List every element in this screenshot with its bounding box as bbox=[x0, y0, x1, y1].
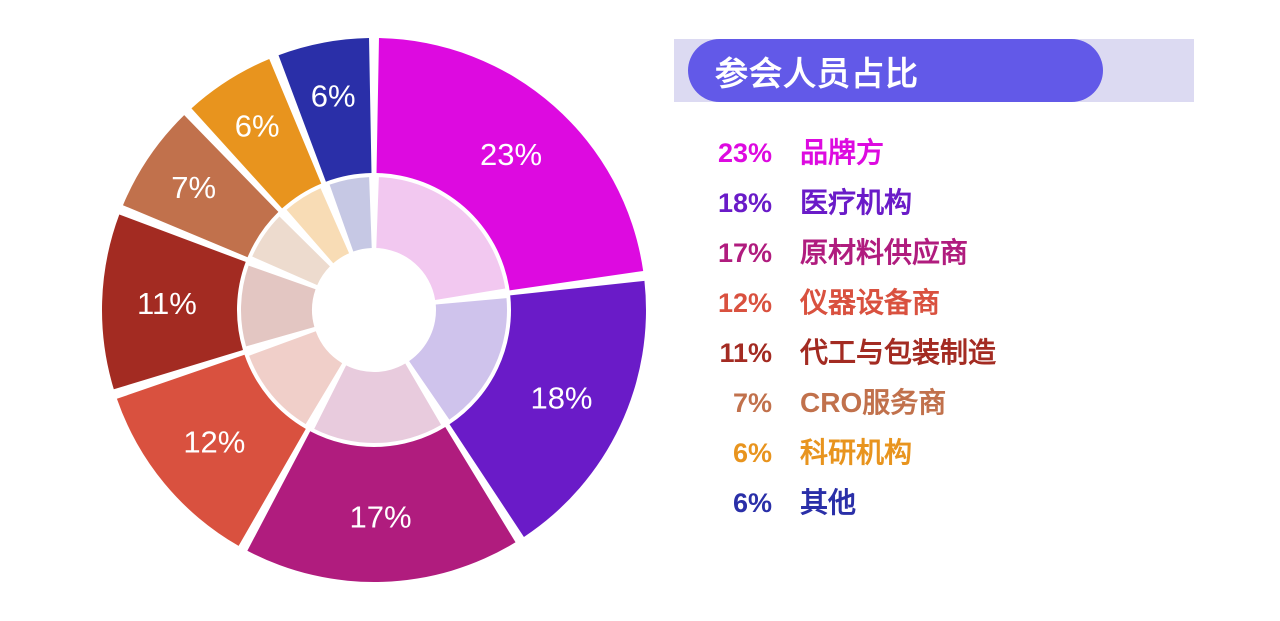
legend-percent: 18% bbox=[660, 188, 772, 219]
legend-item: 6%科研机构 bbox=[660, 431, 1280, 481]
legend-label: CRO服务商 bbox=[800, 381, 946, 421]
legend-label: 科研机构 bbox=[800, 431, 912, 471]
pie-slice-value-label: 17% bbox=[349, 500, 411, 535]
pie-slice-value-label: 6% bbox=[311, 78, 356, 113]
page-title: 参会人员占比 bbox=[715, 47, 919, 95]
title-pill: 参会人员占比 bbox=[688, 39, 1103, 102]
pie-slice-value-label: 6% bbox=[235, 108, 280, 143]
legend-label: 其他 bbox=[800, 481, 856, 521]
donut-chart-svg: 23%18%17%12%11%7%6%6% bbox=[0, 0, 660, 621]
pie-slice-value-label: 7% bbox=[171, 170, 216, 205]
right-panel: 参会人员占比 23%品牌方18%医疗机构17%原材料供应商12%仪器设备商11%… bbox=[660, 0, 1280, 621]
legend-percent: 7% bbox=[660, 388, 772, 419]
legend-item: 7%CRO服务商 bbox=[660, 381, 1280, 431]
legend-label: 医疗机构 bbox=[800, 181, 912, 221]
legend-percent: 11% bbox=[660, 338, 772, 369]
legend-item: 17%原材料供应商 bbox=[660, 231, 1280, 281]
inner-ring bbox=[241, 177, 507, 443]
pie-slice-value-label: 18% bbox=[530, 381, 592, 416]
donut-chart: 23%18%17%12%11%7%6%6% bbox=[0, 0, 660, 621]
pie-slice-value-label: 11% bbox=[137, 286, 197, 321]
legend-label: 品牌方 bbox=[800, 131, 884, 171]
pie-slice-value-label: 23% bbox=[480, 137, 542, 172]
legend-label: 代工与包装制造 bbox=[800, 331, 996, 371]
legend-item: 11%代工与包装制造 bbox=[660, 331, 1280, 381]
legend-percent: 6% bbox=[660, 488, 772, 519]
pie-slice-value-label: 12% bbox=[183, 425, 245, 460]
legend-item: 12%仪器设备商 bbox=[660, 281, 1280, 331]
legend-item: 6%其他 bbox=[660, 481, 1280, 531]
legend-percent: 12% bbox=[660, 288, 772, 319]
legend-percent: 6% bbox=[660, 438, 772, 469]
title-banner: 参会人员占比 bbox=[674, 39, 1194, 102]
legend-percent: 17% bbox=[660, 238, 772, 269]
infographic-root: 23%18%17%12%11%7%6%6% 参会人员占比 23%品牌方18%医疗… bbox=[0, 0, 1280, 621]
legend-item: 18%医疗机构 bbox=[660, 181, 1280, 231]
legend-percent: 23% bbox=[660, 138, 772, 169]
legend-item: 23%品牌方 bbox=[660, 131, 1280, 181]
legend-label: 仪器设备商 bbox=[800, 281, 940, 321]
legend-label: 原材料供应商 bbox=[800, 231, 968, 271]
legend-list: 23%品牌方18%医疗机构17%原材料供应商12%仪器设备商11%代工与包装制造… bbox=[660, 131, 1280, 531]
